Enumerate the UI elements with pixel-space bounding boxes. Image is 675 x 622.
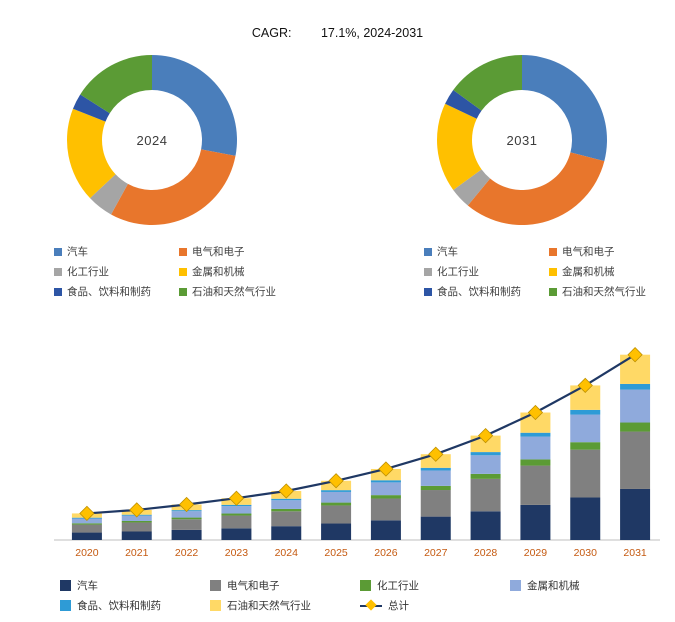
bar-segment-电气和电子 [570, 450, 600, 498]
bar-segment-电气和电子 [122, 522, 152, 531]
legend-label: 食品、饮料和制药 [67, 284, 151, 299]
legend-item-电气和电子[interactable]: 电气和电子 [549, 244, 674, 259]
bar-legend-swatch-icon [60, 580, 71, 591]
bar-segment-金属和机械 [371, 482, 401, 495]
bar-segment-金属和机械 [570, 415, 600, 443]
bar-segment-金属和机械 [471, 455, 501, 474]
bar-segment-电气和电子 [321, 505, 351, 523]
x-tick-label: 2026 [374, 547, 398, 559]
bar-legend-label: 电气和电子 [227, 578, 280, 593]
legend-label: 石油和天然气行业 [192, 284, 276, 299]
bar-segment-汽车 [321, 524, 351, 540]
bar-segment-汽车 [72, 533, 102, 540]
bar-segment-金属和机械 [221, 506, 251, 513]
bar-segment-化工行业 [321, 503, 351, 506]
x-tick-label: 2023 [225, 547, 249, 559]
legend-item-电气和电子[interactable]: 电气和电子 [179, 244, 304, 259]
bar-segment-化工行业 [221, 514, 251, 516]
bar-segment-电气和电子 [221, 516, 251, 529]
bar-legend-swatch-icon [210, 580, 221, 591]
x-tick-label: 2031 [623, 547, 647, 559]
cagr-value: 17.1%, 2024-2031 [321, 26, 423, 40]
bar-segment-化工行业 [620, 423, 650, 432]
bar-segment-化工行业 [172, 518, 202, 520]
legend-label: 金属和机械 [562, 264, 615, 279]
bar-segment-电气和电子 [421, 490, 451, 517]
x-tick-label: 2024 [275, 547, 299, 559]
bar-segment-化工行业 [122, 521, 152, 522]
bar-segment-电气和电子 [520, 466, 550, 505]
legend-item-食品、饮料和制药[interactable]: 食品、饮料和制药 [424, 284, 549, 299]
bar-segment-汽车 [421, 517, 451, 540]
legend-item-金属和机械[interactable]: 金属和机械 [549, 264, 674, 279]
legend-item-石油和天然气行业[interactable]: 石油和天然气行业 [179, 284, 304, 299]
bar-segment-电气和电子 [620, 432, 650, 489]
bar-segment-食品、饮料和制药 [620, 384, 650, 390]
bar-legend-item-汽车[interactable]: 汽车 [60, 578, 210, 593]
bar-segment-食品、饮料和制药 [570, 410, 600, 415]
bar-legend-label: 化工行业 [377, 578, 419, 593]
total-line [87, 355, 635, 514]
bar-legend-swatch-icon [510, 580, 521, 591]
bar-legend-swatch-icon [210, 600, 221, 611]
bar-legend-label: 食品、饮料和制药 [77, 598, 161, 613]
bar-segment-食品、饮料和制药 [321, 490, 351, 492]
bar-segment-汽车 [570, 497, 600, 540]
total-line-marker-icon [360, 605, 382, 607]
legend-item-金属和机械[interactable]: 金属和机械 [179, 264, 304, 279]
bar-segment-化工行业 [271, 509, 301, 511]
bar-segment-电气和电子 [271, 511, 301, 526]
bar-segment-金属和机械 [271, 500, 301, 509]
bar-segment-金属和机械 [520, 437, 550, 460]
legend-item-汽车[interactable]: 汽车 [424, 244, 549, 259]
bar-segment-汽车 [620, 489, 650, 540]
bar-legend-label: 金属和机械 [527, 578, 580, 593]
legend-swatch-icon [54, 248, 62, 256]
bar-legend-item-食品、饮料和制药[interactable]: 食品、饮料和制药 [60, 598, 210, 613]
legend-item-汽车[interactable]: 汽车 [54, 244, 179, 259]
legend-label: 汽车 [437, 244, 458, 259]
bar-segment-电气和电子 [471, 479, 501, 511]
bar-segment-电气和电子 [371, 499, 401, 521]
legend-swatch-icon [549, 248, 557, 256]
bar-segment-金属和机械 [620, 390, 650, 423]
donut-legend-2031: 汽车电气和电子化工行业金属和机械食品、饮料和制药石油和天然气行业 [424, 244, 674, 304]
x-tick-label: 2022 [175, 547, 199, 559]
legend-label: 化工行业 [437, 264, 479, 279]
cagr-label: CAGR: [252, 26, 292, 40]
x-tick-label: 2025 [324, 547, 348, 559]
x-tick-label: 2028 [474, 547, 498, 559]
bar-segment-金属和机械 [421, 470, 451, 485]
legend-label: 电气和电子 [192, 244, 245, 259]
bar-segment-汽车 [471, 511, 501, 540]
legend-label: 汽车 [67, 244, 88, 259]
bar-segment-食品、饮料和制药 [371, 480, 401, 482]
legend-swatch-icon [54, 268, 62, 276]
bar-legend-label: 总计 [388, 598, 409, 613]
legend-swatch-icon [424, 268, 432, 276]
donut-chart-2031: 2031 [432, 50, 612, 230]
legend-swatch-icon [549, 268, 557, 276]
bar-segment-食品、饮料和制药 [520, 433, 550, 437]
bar-segment-食品、饮料和制药 [471, 452, 501, 455]
bar-segment-化工行业 [72, 523, 102, 524]
x-tick-label: 2020 [75, 547, 99, 559]
bar-segment-金属和机械 [172, 511, 202, 517]
stacked-bar-chart: 2020202120222023202420252026202720282029… [0, 330, 675, 580]
bar-segment-化工行业 [570, 442, 600, 449]
legend-label: 电气和电子 [562, 244, 615, 259]
bar-segment-汽车 [172, 530, 202, 540]
bar-legend-swatch-icon [60, 600, 71, 611]
legend-swatch-icon [549, 288, 557, 296]
donut-block-2024: 2024 汽车电气和电子化工行业金属和机械食品、饮料和制药石油和天然气行业 [62, 50, 304, 304]
legend-item-石油和天然气行业[interactable]: 石油和天然气行业 [549, 284, 674, 299]
bar-segment-汽车 [221, 528, 251, 540]
bar-legend-swatch-icon [360, 580, 371, 591]
chart-title: CAGR: 17.1%, 2024-2031 [0, 26, 675, 40]
donut-legend-2024: 汽车电气和电子化工行业金属和机械食品、饮料和制药石油和天然气行业 [54, 244, 304, 304]
bar-segment-化工行业 [371, 495, 401, 498]
bar-chart-legend: 汽车电气和电子化工行业金属和机械食品、饮料和制药石油和天然气行业总计 [60, 578, 660, 618]
legend-swatch-icon [179, 268, 187, 276]
bar-legend-item-总计[interactable]: 总计 [360, 598, 510, 613]
bar-segment-食品、饮料和制药 [421, 468, 451, 471]
donut-center-label-2024: 2024 [62, 50, 242, 230]
bar-segment-金属和机械 [321, 492, 351, 503]
legend-label: 石油和天然气行业 [562, 284, 646, 299]
x-tick-label: 2027 [424, 547, 448, 559]
bar-segment-汽车 [371, 520, 401, 540]
x-tick-label: 2029 [524, 547, 548, 559]
legend-swatch-icon [54, 288, 62, 296]
donut-block-2031: 2031 汽车电气和电子化工行业金属和机械食品、饮料和制药石油和天然气行业 [432, 50, 674, 304]
bar-segment-电气和电子 [172, 519, 202, 530]
bar-segment-化工行业 [520, 459, 550, 465]
legend-label: 食品、饮料和制药 [437, 284, 521, 299]
bar-segment-汽车 [122, 531, 152, 540]
legend-swatch-icon [179, 248, 187, 256]
bar-legend-label: 汽车 [77, 578, 98, 593]
legend-label: 金属和机械 [192, 264, 245, 279]
x-tick-label: 2030 [574, 547, 598, 559]
legend-item-食品、饮料和制药[interactable]: 食品、饮料和制药 [54, 284, 179, 299]
bar-segment-化工行业 [421, 486, 451, 490]
bar-legend-item-石油和天然气行业[interactable]: 石油和天然气行业 [210, 598, 360, 613]
legend-swatch-icon [424, 288, 432, 296]
legend-item-化工行业[interactable]: 化工行业 [424, 264, 549, 279]
legend-swatch-icon [179, 288, 187, 296]
bar-legend-item-金属和机械[interactable]: 金属和机械 [510, 578, 660, 593]
bar-legend-item-电气和电子[interactable]: 电气和电子 [210, 578, 360, 593]
bar-segment-汽车 [271, 526, 301, 540]
bar-segment-食品、饮料和制药 [271, 499, 301, 500]
donut-center-label-2031: 2031 [432, 50, 612, 230]
legend-label: 化工行业 [67, 264, 109, 279]
donut-chart-2024: 2024 [62, 50, 242, 230]
bar-segment-电气和电子 [72, 525, 102, 533]
bar-legend-item-化工行业[interactable]: 化工行业 [360, 578, 510, 593]
bar-segment-化工行业 [471, 474, 501, 479]
legend-swatch-icon [424, 248, 432, 256]
bar-legend-label: 石油和天然气行业 [227, 598, 311, 613]
x-tick-label: 2021 [125, 547, 149, 559]
bar-segment-汽车 [520, 505, 550, 540]
legend-item-化工行业[interactable]: 化工行业 [54, 264, 179, 279]
